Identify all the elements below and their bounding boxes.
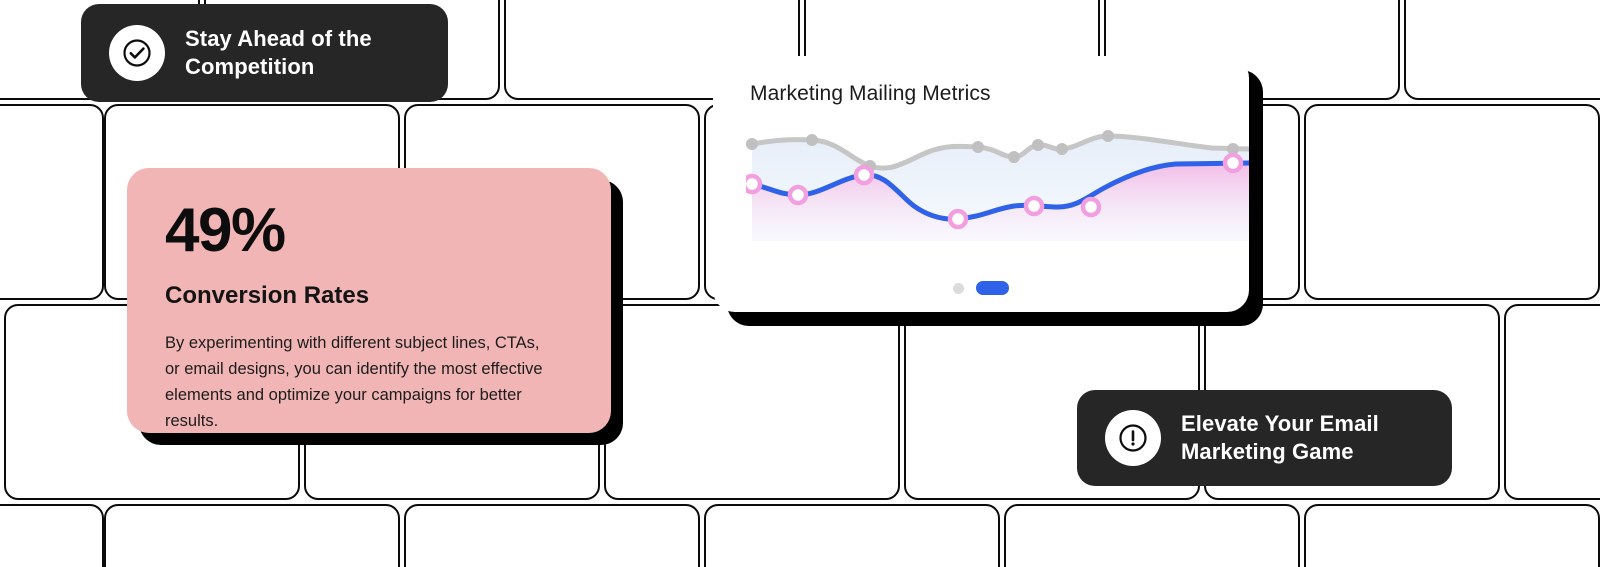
- badge-top-label: Stay Ahead of the Competition: [185, 25, 372, 81]
- hero-composition: Stay Ahead of the Competition 49% Conver…: [0, 0, 1600, 567]
- badge-stay-ahead[interactable]: Stay Ahead of the Competition: [81, 4, 448, 102]
- grid-brick: [1304, 504, 1600, 567]
- badge-bottom-label: Elevate Your Email Marketing Game: [1181, 410, 1379, 466]
- pagination-dot-2-active[interactable]: [976, 281, 1009, 295]
- grid-brick: [404, 504, 700, 567]
- chart-pagination[interactable]: [713, 281, 1249, 295]
- grid-brick: [1004, 504, 1300, 567]
- grid-brick: [1404, 0, 1600, 100]
- badge-elevate-email[interactable]: Elevate Your Email Marketing Game: [1077, 390, 1452, 486]
- grid-brick: [0, 104, 104, 300]
- stat-card-conversion-rates: 49% Conversion Rates By experimenting wi…: [127, 168, 611, 433]
- grid-brick: [104, 504, 400, 567]
- stat-value: 49%: [165, 200, 565, 262]
- chart-card-marketing-mailing-metrics: Marketing Mailing Metrics: [713, 56, 1249, 312]
- grid-brick: [1504, 304, 1600, 500]
- grid-brick: [1304, 104, 1600, 300]
- grid-brick: [604, 304, 900, 500]
- stat-label: Conversion Rates: [165, 284, 565, 308]
- line-chart: [746, 116, 1249, 241]
- pagination-dot-1[interactable]: [953, 283, 964, 294]
- exclamation-circle-icon: [1105, 410, 1161, 466]
- grid-brick: [704, 504, 1000, 567]
- check-circle-icon: [109, 25, 165, 81]
- chart-title: Marketing Mailing Metrics: [750, 82, 991, 106]
- stat-description: By experimenting with different subject …: [165, 330, 555, 434]
- grid-brick: [0, 504, 104, 567]
